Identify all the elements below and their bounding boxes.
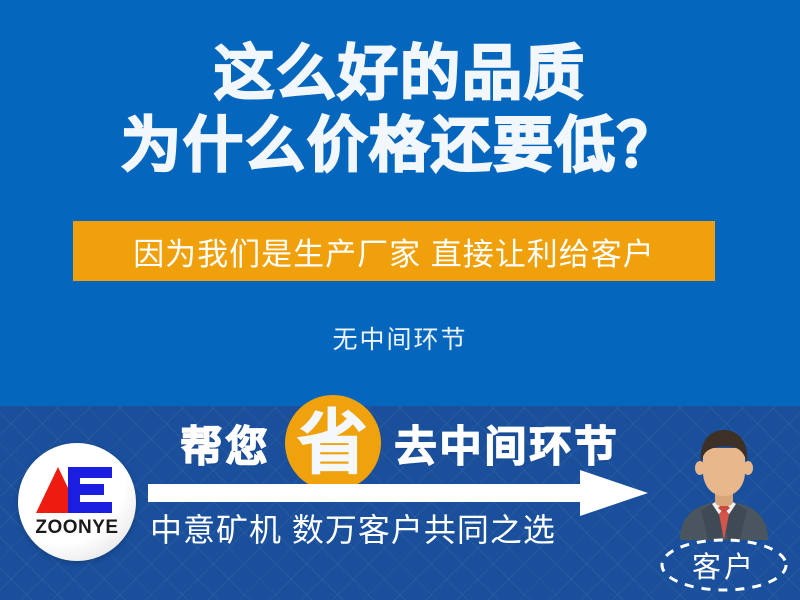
customer-label-group: 客户 (657, 537, 791, 593)
businessman-avatar-icon (668, 428, 780, 540)
logo-mark-icon (32, 463, 122, 521)
promo-banner: 这么好的品质 为什么价格还要低？ 因为我们是生产厂家 直接让利给客户 无中间环节… (0, 0, 800, 600)
highlight-banner: 因为我们是生产厂家 直接让利给客户 (73, 221, 715, 281)
customer-label-text: 客户 (657, 537, 791, 593)
headline-line-1: 这么好的品质 (0, 38, 800, 110)
logo-company-name: ZOONYE (18, 517, 136, 539)
page-title: 这么好的品质 为什么价格还要低？ (0, 38, 800, 182)
headline-line-2: 为什么价格还要低？ (0, 110, 800, 182)
company-logo: ZOONYE (18, 443, 136, 561)
subtitle-no-middleman: 无中间环节 (0, 320, 800, 356)
highlight-banner-text: 因为我们是生产厂家 直接让利给客户 (133, 229, 655, 274)
bottom-tagline: 中意矿机 数万客户共同之选 (150, 505, 580, 551)
